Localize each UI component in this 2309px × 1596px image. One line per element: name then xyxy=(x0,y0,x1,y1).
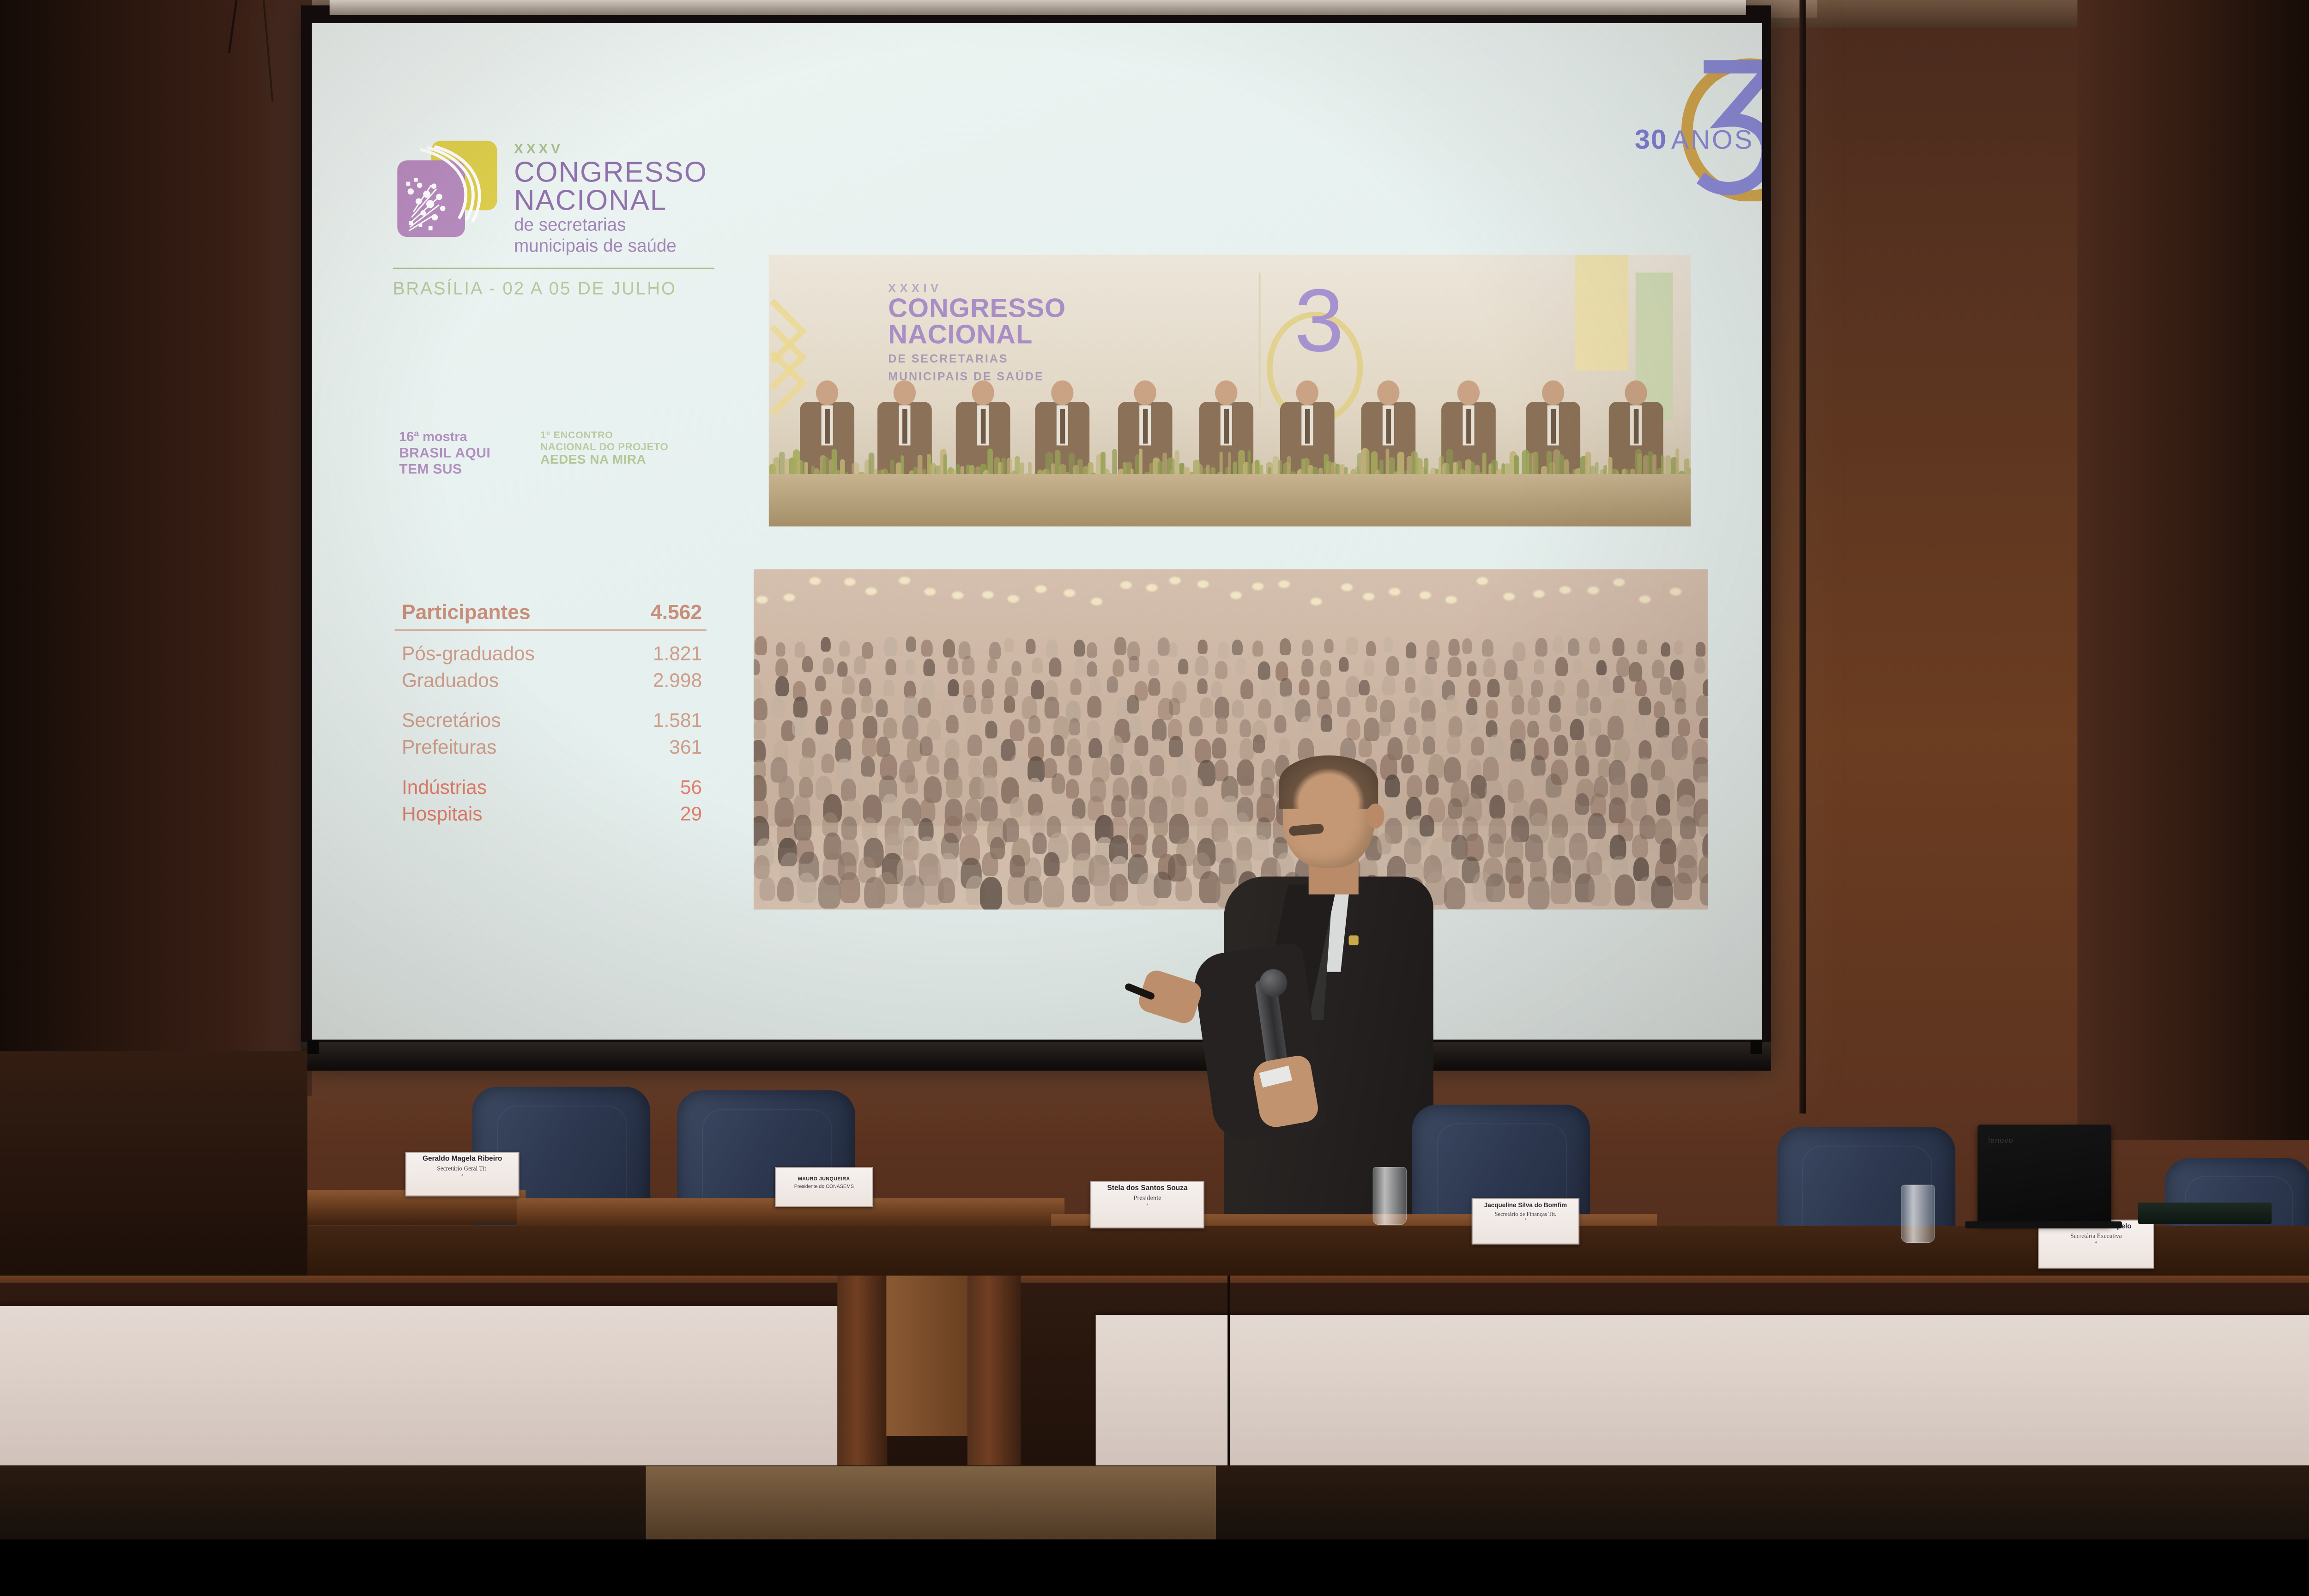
stats-header-row: Participantes 4.562 xyxy=(395,598,707,630)
audience-member xyxy=(1680,816,1695,839)
audience-member xyxy=(1488,834,1504,858)
nameplate-name: Geraldo Magela Ribeiro xyxy=(410,1155,515,1163)
tag-encontro-line2: NACIONAL DO PROJETO xyxy=(540,441,668,453)
audience-member xyxy=(1004,638,1014,653)
nameplate-role-line1: Secretário de Finanças Tit. xyxy=(1476,1211,1575,1217)
audience-member xyxy=(841,697,856,719)
audience-member xyxy=(1382,675,1395,695)
ceiling-light xyxy=(1197,580,1209,587)
audience-member xyxy=(1112,659,1124,677)
audience-member xyxy=(1639,696,1651,715)
audience-member xyxy=(1548,834,1565,858)
audience-member xyxy=(1280,638,1291,655)
banner-yellow-bar xyxy=(1575,255,1628,371)
audience-member xyxy=(1551,873,1572,904)
audience-member xyxy=(1489,795,1505,819)
banner-line2: NACIONAL xyxy=(888,321,1066,348)
nameplate: MAURO JUNQUEIRA Presidente do CONASEMS xyxy=(775,1167,873,1207)
audience-member xyxy=(1052,774,1065,794)
audience-member xyxy=(1427,640,1439,659)
audience-member xyxy=(1570,719,1584,740)
audience-member xyxy=(1528,877,1550,909)
audience-member xyxy=(943,639,955,658)
audience-member xyxy=(779,776,794,799)
audience-member xyxy=(1195,797,1208,817)
audience-member xyxy=(948,679,959,696)
stats-group-gap xyxy=(395,761,707,774)
audience-member xyxy=(1044,852,1060,876)
audience-member xyxy=(1074,658,1086,676)
logo-ordinal: XXXV xyxy=(514,141,707,157)
stats-label: Graduados xyxy=(402,670,499,692)
audience-member xyxy=(905,775,918,794)
audience-member xyxy=(947,657,958,674)
ceiling-lights-row xyxy=(754,573,1708,608)
audience-member xyxy=(989,641,1001,659)
ceiling-light xyxy=(1503,592,1515,600)
audience-member xyxy=(1066,779,1079,798)
screen-bottom-bar xyxy=(301,1042,1771,1071)
audience-member xyxy=(1031,680,1044,699)
ceiling-light xyxy=(1445,596,1457,603)
audience-member xyxy=(1487,679,1499,697)
audience-member xyxy=(1651,876,1673,908)
water-glass[interactable] xyxy=(1373,1167,1407,1225)
audience-member xyxy=(1154,815,1168,837)
logo-divider xyxy=(393,268,714,269)
audience-member xyxy=(815,676,826,691)
audience-member xyxy=(1406,642,1416,658)
ceiling-light xyxy=(865,588,877,595)
audience-member xyxy=(1617,657,1630,676)
conasems-anniversary-logo: 30 ANOS CONASEMS xyxy=(1630,54,1762,201)
audience-member xyxy=(906,636,916,652)
audience-member xyxy=(1339,657,1348,672)
stats-label: Secretários xyxy=(402,709,501,731)
audience-member xyxy=(1409,696,1420,713)
audience-member xyxy=(1590,697,1601,713)
audience-member xyxy=(1253,735,1265,753)
audience-member xyxy=(1200,697,1213,718)
audience-member xyxy=(1261,679,1275,700)
logo-location-dates: BRASÍLIA - 02 A 05 DE JULHO xyxy=(393,279,745,299)
logo-subtitle-2: municipais de saúde xyxy=(514,236,707,256)
nameplate-role-line1: Presidente do CONASEMS xyxy=(780,1184,869,1189)
audience-member xyxy=(1232,700,1244,718)
audience-member xyxy=(1045,697,1059,719)
congress-logo-mark xyxy=(393,139,504,238)
tag-mostra-line1: 16ª mostra xyxy=(399,429,490,445)
screen-roller[interactable] xyxy=(330,0,1746,15)
audience-member xyxy=(1211,681,1222,698)
stage-front-table xyxy=(769,474,1691,526)
audience-member xyxy=(1364,659,1375,676)
audience-member xyxy=(1554,680,1565,696)
audience-member xyxy=(821,637,831,652)
ceiling-light xyxy=(1420,592,1431,599)
stats-value: 56 xyxy=(680,776,702,798)
ceiling-light xyxy=(1064,589,1075,597)
audience-member xyxy=(754,720,766,739)
audience-member xyxy=(754,679,762,698)
audience-member xyxy=(1696,642,1705,656)
audience-member xyxy=(1509,875,1524,898)
audience-member xyxy=(1679,754,1695,778)
audience-member xyxy=(1359,679,1370,695)
stats-value: 29 xyxy=(680,803,702,825)
audience-member xyxy=(754,659,760,675)
audience-member xyxy=(1448,716,1462,737)
ceiling-light xyxy=(1278,580,1290,588)
audience-member xyxy=(1168,642,1178,657)
audience-member xyxy=(775,658,788,677)
audience-member xyxy=(1466,716,1478,733)
audience-member xyxy=(1613,698,1626,717)
audience-member xyxy=(1661,642,1671,656)
water-glass[interactable] xyxy=(1901,1185,1935,1243)
audience-member xyxy=(839,718,853,740)
audience-member xyxy=(1172,775,1187,797)
ceiling-light xyxy=(1120,581,1132,589)
audience-member xyxy=(854,656,866,674)
conference-room-scene: XXXV CONGRESSO NACIONAL de secretarias m… xyxy=(0,0,2309,1539)
audience-member xyxy=(962,813,977,835)
audience-member xyxy=(1654,701,1665,718)
audience-member xyxy=(1087,642,1097,658)
audience-member xyxy=(792,717,805,737)
audience-member xyxy=(876,872,897,903)
audience-member xyxy=(1422,718,1437,739)
audience-member xyxy=(754,775,767,801)
audience-member xyxy=(1169,736,1183,757)
audience-member xyxy=(1087,696,1101,718)
banner-divider xyxy=(1259,272,1261,406)
audience-member xyxy=(1150,755,1164,777)
audience-member xyxy=(1175,877,1191,901)
audience-member xyxy=(862,642,873,659)
audience-member xyxy=(883,680,894,696)
audience-member xyxy=(1240,679,1253,699)
audience-member xyxy=(1070,678,1082,695)
audience-member xyxy=(1114,637,1126,655)
laptop[interactable]: lenovo xyxy=(1977,1124,2111,1225)
wall-corner-edge xyxy=(1800,0,1806,1113)
audience-member xyxy=(862,817,877,840)
audience-member xyxy=(1074,640,1085,657)
audience-member xyxy=(1089,677,1101,695)
slide-tag-row: 16ª mostra BRASIL AQUI TEM SUS 1º ENCONT… xyxy=(399,429,668,477)
nameplate-emblem-icon: ▲ xyxy=(1095,1203,1200,1206)
audience-member xyxy=(923,659,935,676)
audience-member xyxy=(1589,718,1602,736)
audience-member xyxy=(1576,697,1588,716)
audience-member xyxy=(905,659,915,674)
audience-member xyxy=(1239,719,1251,737)
audience-member xyxy=(1614,738,1629,762)
presentation-slide: XXXV CONGRESSO NACIONAL de secretarias m… xyxy=(312,23,1762,1040)
audience-member xyxy=(1198,640,1207,654)
audience-member xyxy=(1670,660,1684,680)
audience-member xyxy=(1088,738,1102,758)
slide-photo-officials: XXXIV CONGRESSO NACIONAL DE SECRETARIAS … xyxy=(769,255,1691,526)
audience-member xyxy=(1024,877,1042,903)
ceiling-light xyxy=(1670,588,1681,596)
audience-member xyxy=(1568,638,1579,656)
audience-member xyxy=(1703,679,1708,696)
ceiling-light xyxy=(1146,584,1158,592)
audience-member xyxy=(981,696,993,714)
audience-member xyxy=(946,774,962,798)
ceiling-light xyxy=(1169,577,1181,584)
audience-member xyxy=(985,720,997,738)
banner-sub1: DE SECRETARIAS xyxy=(888,351,1066,366)
audience-member xyxy=(754,855,770,879)
audience-member xyxy=(1549,714,1561,731)
audience-member xyxy=(1549,695,1560,713)
audience-member xyxy=(799,756,814,778)
ceiling-light xyxy=(1533,590,1545,598)
nameplate-role-line1: Secretária Executiva xyxy=(2043,1233,2149,1240)
logo-line-congresso: CONGRESSO xyxy=(514,158,707,186)
audience-member xyxy=(1554,735,1568,756)
audience-member xyxy=(1346,676,1360,697)
ceiling-light xyxy=(783,594,795,601)
audience-member xyxy=(859,678,871,696)
audience-member xyxy=(837,662,847,677)
stats-row: Hospitais 29 xyxy=(395,801,707,828)
audience-member xyxy=(1513,642,1526,661)
audience-member xyxy=(839,641,850,657)
presenter-lapel-pin xyxy=(1349,935,1359,945)
nameplate-emblem-icon: ▲ xyxy=(1476,1218,1575,1221)
wall-right-shadow xyxy=(2077,0,2309,1140)
banner-line1: CONGRESSO xyxy=(888,295,1066,321)
audience-member xyxy=(1087,720,1100,740)
audience-member xyxy=(876,737,890,756)
audience-member xyxy=(876,699,888,717)
laptop-brand-logo: lenovo xyxy=(1989,1136,2013,1145)
audience-member xyxy=(1148,678,1160,696)
audience-member xyxy=(755,636,767,655)
ceiling-light xyxy=(756,596,768,604)
audience-member xyxy=(1032,658,1043,673)
presenter-hair xyxy=(1279,756,1378,809)
stats-label: Indústrias xyxy=(402,776,487,798)
audience-member xyxy=(1447,734,1460,754)
audience-member xyxy=(1302,640,1313,656)
audience-member xyxy=(1110,874,1129,901)
audience-member xyxy=(1346,636,1358,655)
audience-member xyxy=(1512,695,1524,714)
nameplate: Stela dos Santos Souza Presidente ▲ xyxy=(1090,1181,1204,1228)
stats-label: Pós-graduados xyxy=(402,643,535,665)
audience-member xyxy=(1004,696,1015,713)
audience-member xyxy=(1589,638,1600,654)
audience-member xyxy=(1178,659,1188,674)
ceiling-light xyxy=(1230,592,1242,599)
audience-member xyxy=(1366,641,1376,656)
audience-member xyxy=(1129,656,1140,672)
audience-member xyxy=(1009,754,1026,779)
stats-value: 1.581 xyxy=(653,709,702,731)
audience-member xyxy=(842,676,854,695)
tablet-device[interactable] xyxy=(2138,1203,2272,1224)
audience-member xyxy=(1656,794,1670,816)
audience-member xyxy=(1212,738,1226,759)
stats-row: Secretários 1.581 xyxy=(395,707,707,734)
audience-member xyxy=(820,700,831,716)
tag-mostra-line3: TEM SUS xyxy=(399,461,490,477)
logo-swoosh-icon xyxy=(393,139,504,238)
tag-encontro-line1: 1º ENCONTRO xyxy=(540,429,668,441)
audience-member xyxy=(1699,717,1708,738)
audience-member xyxy=(1483,659,1496,677)
audience-member xyxy=(1575,756,1589,776)
audience-member xyxy=(968,758,982,778)
audience-member xyxy=(1069,755,1082,775)
audience-member xyxy=(1235,658,1246,674)
ceiling-light xyxy=(1091,598,1102,605)
presenter-ear xyxy=(1366,804,1384,828)
nameplate-role-line1: Secretário Geral Tit. xyxy=(410,1166,515,1173)
audience-member xyxy=(1569,833,1587,860)
ceiling-light xyxy=(924,588,936,595)
audience-member xyxy=(962,656,975,675)
nameplate: Jacqueline Silva do Bomfim Secretário de… xyxy=(1472,1198,1579,1245)
audience-member xyxy=(1696,695,1708,716)
audience-member xyxy=(1587,852,1602,875)
audience-member xyxy=(1282,695,1296,715)
audience-member xyxy=(793,696,807,717)
audience-member xyxy=(1279,738,1291,756)
audience-member xyxy=(840,872,860,903)
audience-member xyxy=(1633,715,1645,733)
audience-member xyxy=(1072,876,1090,902)
floor-carpet-strip xyxy=(646,1466,1216,1539)
audience-member xyxy=(902,715,919,739)
audience-member xyxy=(1448,657,1461,677)
audience-member xyxy=(1300,716,1313,735)
stats-label: Prefeituras xyxy=(402,736,496,758)
audience-member xyxy=(1598,677,1611,696)
audience-member xyxy=(822,657,834,674)
stats-row: Graduados 2.998 xyxy=(395,667,707,694)
audience-member xyxy=(1280,678,1292,697)
audience-member xyxy=(797,873,816,903)
audience-member xyxy=(1467,661,1477,676)
tag-mostra: 16ª mostra BRASIL AQUI TEM SUS xyxy=(399,429,490,477)
audience-member xyxy=(1189,716,1203,736)
audience-member xyxy=(1051,735,1064,756)
audience-member xyxy=(1531,755,1545,776)
audience-member xyxy=(1218,642,1229,659)
audience-member xyxy=(921,680,935,700)
audience-member xyxy=(1347,719,1360,740)
presenter-hand xyxy=(1251,1054,1320,1130)
ceiling-light xyxy=(844,578,856,586)
audience-member xyxy=(981,679,994,698)
audience-member xyxy=(1320,660,1331,677)
audience-member xyxy=(802,738,816,758)
audience-member xyxy=(861,695,873,713)
audience-member xyxy=(1575,793,1589,815)
audience-member xyxy=(1028,715,1040,733)
photo-banner-text: XXXIV CONGRESSO NACIONAL DE SECRETARIAS … xyxy=(888,282,1066,384)
railing-post xyxy=(886,1276,967,1436)
stats-value: 361 xyxy=(669,736,702,758)
audience-member xyxy=(1216,717,1227,734)
audience-member xyxy=(1046,640,1058,658)
audience-member xyxy=(1378,718,1391,736)
audience-member xyxy=(1010,719,1025,741)
stats-label: Hospitais xyxy=(402,803,483,825)
audience-member xyxy=(754,740,766,762)
audience-member xyxy=(777,877,794,901)
audience-member xyxy=(1406,658,1416,674)
stats-header-label: Participantes xyxy=(402,600,531,624)
stats-group-gap xyxy=(395,694,707,707)
audience-member xyxy=(1509,676,1523,697)
ceiling-light xyxy=(1639,596,1651,603)
nameplate-name: Jacqueline Silva do Bomfim xyxy=(1476,1202,1575,1208)
audience-member xyxy=(1486,873,1505,902)
ceiling-light xyxy=(1389,588,1401,595)
audience-member xyxy=(1087,661,1097,677)
audience-member xyxy=(1177,754,1191,776)
ceiling-light xyxy=(1007,595,1019,603)
audience-member xyxy=(1482,640,1493,657)
stats-row: Indústrias 56 xyxy=(395,774,707,801)
audience-member xyxy=(841,779,856,801)
audience-member xyxy=(883,718,897,738)
nameplate: Geraldo Magela Ribeiro Secretário Geral … xyxy=(405,1152,520,1196)
audience-member xyxy=(1471,737,1484,756)
audience-member xyxy=(885,659,896,676)
ceiling-light xyxy=(982,591,994,598)
audience-member xyxy=(795,642,805,658)
audience-member xyxy=(920,737,933,756)
audience-member xyxy=(980,877,1002,910)
audience-member xyxy=(1005,677,1018,696)
audience-member xyxy=(1405,677,1415,693)
tag-encontro-line3: AEDES NA MIRA xyxy=(540,453,668,467)
audience-member xyxy=(1426,657,1437,674)
audience-member xyxy=(1656,717,1669,738)
stats-value: 1.821 xyxy=(653,643,702,665)
ceiling-light xyxy=(1341,583,1353,591)
tag-encontro: 1º ENCONTRO NACIONAL DO PROJETO AEDES NA… xyxy=(540,429,668,477)
audience-member xyxy=(1366,695,1377,713)
audience-member xyxy=(1127,695,1139,713)
audience-member xyxy=(1486,700,1498,718)
banner-numeral-3: 3 xyxy=(1294,276,1344,365)
audience-member xyxy=(1171,794,1185,815)
audience-member xyxy=(1407,734,1420,754)
audience-member xyxy=(1660,677,1672,695)
audience-member xyxy=(1111,795,1125,817)
audience-member xyxy=(818,875,840,908)
audience-member xyxy=(1258,661,1270,680)
audience-member xyxy=(1531,680,1542,697)
audience-member xyxy=(1573,658,1583,673)
audience-member xyxy=(754,698,768,720)
audience-member xyxy=(1534,659,1544,674)
audience-member xyxy=(1612,638,1624,656)
audience-member xyxy=(1169,698,1180,715)
audience-member xyxy=(1596,734,1611,757)
audience-member xyxy=(967,735,982,756)
audience-member xyxy=(771,697,785,718)
